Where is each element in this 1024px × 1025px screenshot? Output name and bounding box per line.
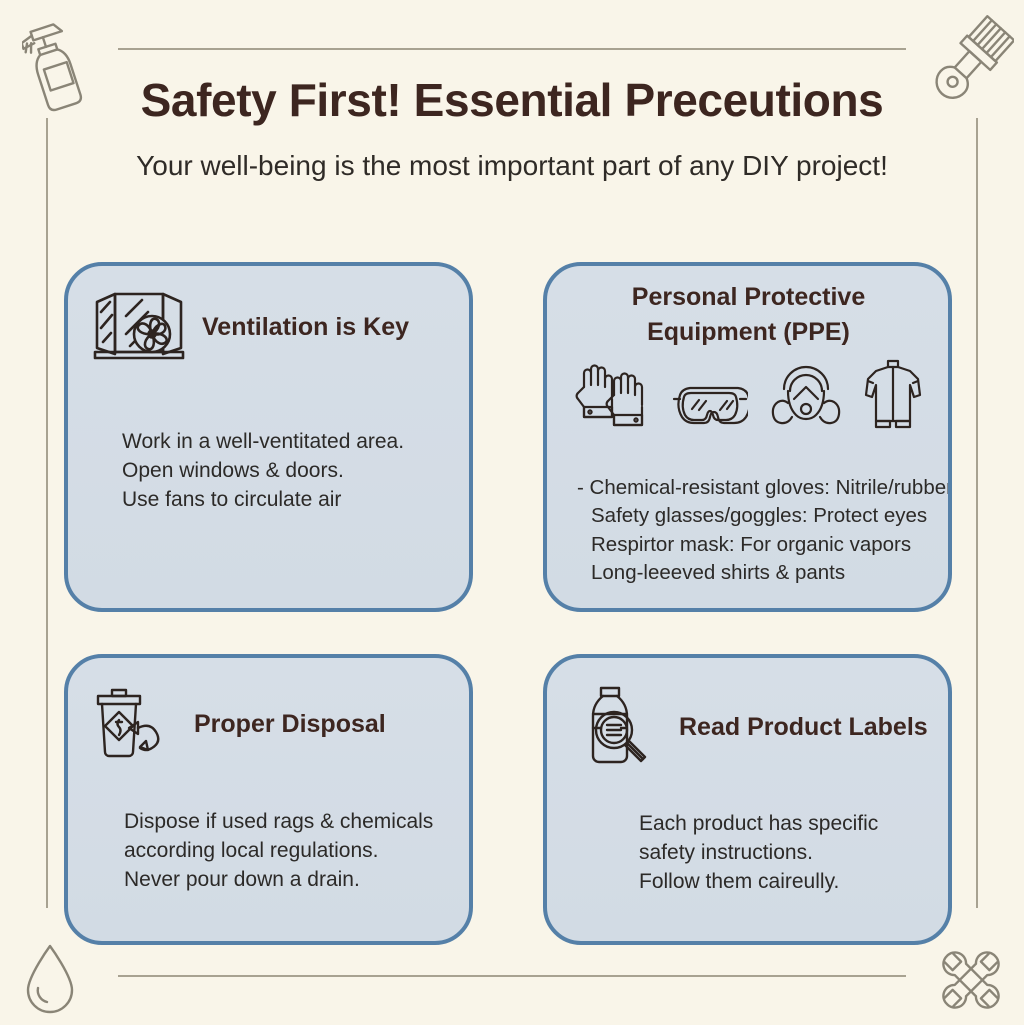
- poster-header: Safety First! Essential Preceutions Your…: [0, 74, 1024, 182]
- card-header-ppe: Personal Protective Equipment (PPE): [547, 266, 948, 347]
- card-title-ventilation: Ventilation is Key: [202, 312, 409, 343]
- page-subtitle: Your well-being is the most important pa…: [0, 149, 1024, 183]
- safety-card-grid: Ventilation is Key Work in a well-ventit…: [64, 262, 960, 945]
- water-drop-icon: [18, 938, 82, 1023]
- card-title-ppe-line1: Personal Protective: [632, 282, 865, 313]
- hazardous-waste-bin-icon: [90, 684, 180, 764]
- card-line: Long-leeeved shirts & pants: [577, 559, 952, 587]
- respirator-mask-icon: [770, 363, 842, 431]
- frame-line-bottom: [118, 975, 906, 977]
- card-line: according local regulations.: [124, 837, 433, 866]
- frame-line-right: [976, 118, 978, 908]
- crossed-wrenches-icon: [930, 940, 1012, 1025]
- bottle-with-magnifier-icon: [581, 684, 655, 770]
- card-line: Use fans to circulate air: [122, 486, 404, 515]
- coveralls-icon: [864, 357, 922, 431]
- card-line: Dispose if used rags & chemicals: [124, 808, 433, 837]
- card-title-ppe-line2: Equipment (PPE): [647, 317, 850, 348]
- page-title: Safety First! Essential Preceutions: [0, 74, 1024, 127]
- card-line: Open windows & doors.: [122, 457, 404, 486]
- card-ppe[interactable]: Personal Protective Equipment (PPE): [543, 262, 952, 612]
- card-body-product-labels: Each product has specific safety instruc…: [619, 810, 898, 897]
- infographic-poster: Safety First! Essential Preceutions Your…: [0, 0, 1024, 1024]
- card-line: Respirtor mask: For organic vapors: [577, 531, 952, 559]
- frame-line-top: [118, 48, 906, 50]
- card-body-ventilation: Work in a well-ventitated area. Open win…: [102, 428, 424, 515]
- card-line: - Chemical-resistant gloves: Nitrile/rub…: [577, 474, 952, 502]
- card-header-product-labels: Read Product Labels: [547, 658, 948, 770]
- card-body-disposal: Dispose if used rags & chemicals accordi…: [104, 808, 453, 895]
- card-line: Each product has specific: [639, 810, 878, 839]
- card-line: Safety glasses/goggles: Protect eyes: [577, 502, 952, 530]
- card-title-product-labels: Read Product Labels: [669, 712, 928, 743]
- card-title-disposal: Proper Disposal: [194, 709, 386, 740]
- card-line: Work in a well-ventitated area.: [122, 428, 404, 457]
- safety-gloves-icon: [574, 363, 650, 431]
- card-header-disposal: Proper Disposal: [68, 658, 469, 764]
- card-line: Never pour down a drain.: [124, 866, 433, 895]
- frame-line-left: [46, 118, 48, 908]
- card-line: Follow them caireully.: [639, 868, 878, 897]
- card-product-labels[interactable]: Read Product Labels Each product has spe…: [543, 654, 952, 945]
- safety-goggles-icon: [672, 383, 748, 431]
- card-header-ventilation: Ventilation is Key: [68, 266, 469, 366]
- ppe-icon-row: [547, 357, 948, 431]
- card-ventilation[interactable]: Ventilation is Key Work in a well-ventit…: [64, 262, 473, 612]
- open-window-with-fan-icon: [90, 288, 188, 366]
- card-disposal[interactable]: Proper Disposal Dispose if used rags & c…: [64, 654, 473, 945]
- card-line: safety instructions.: [639, 839, 878, 868]
- card-body-ppe: - Chemical-resistant gloves: Nitrile/rub…: [557, 474, 952, 587]
